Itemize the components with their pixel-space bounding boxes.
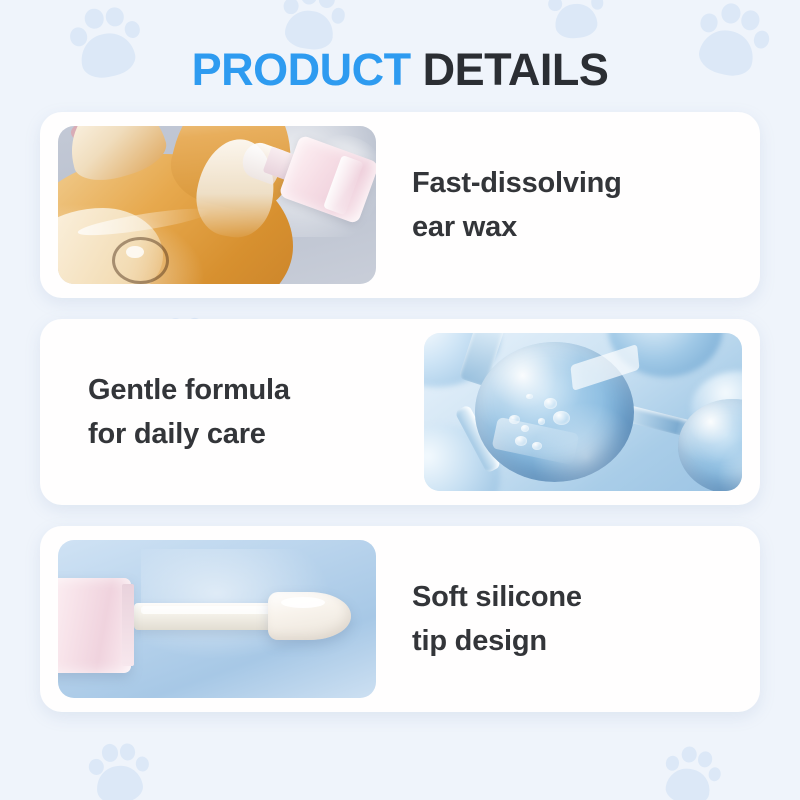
caption-line: Fast-dissolving [412, 161, 732, 205]
paw-print-icon [82, 738, 154, 800]
feature-caption: Gentle formula for daily care [58, 368, 424, 456]
feature-caption: Soft silicone tip design [376, 575, 742, 663]
caption-line: Soft silicone [412, 575, 732, 619]
feature-card-gentle-formula[interactable]: Gentle formula for daily care [40, 319, 760, 505]
feature-caption: Fast-dissolving ear wax [376, 161, 742, 249]
feature-card-fast-dissolving[interactable]: Fast-dissolving ear wax [40, 112, 760, 298]
caption-line: tip design [412, 619, 732, 663]
blue-molecule-photo [424, 333, 742, 491]
corgi-ear-dropper-photo [58, 126, 376, 284]
feature-card-list: Fast-dissolving ear wax G [40, 96, 760, 712]
feature-card-soft-silicone-tip[interactable]: Soft silicone tip design [40, 526, 760, 712]
page-title-rest: DETAILS [423, 44, 609, 95]
caption-line: for daily care [88, 412, 402, 456]
paw-print-icon [655, 741, 725, 800]
page-title: PRODUCT DETAILS [0, 0, 800, 96]
caption-line: ear wax [412, 205, 732, 249]
caption-line: Gentle formula [88, 368, 402, 412]
page-title-accent: PRODUCT [192, 44, 411, 95]
silicone-dropper-tip-photo [58, 540, 376, 698]
